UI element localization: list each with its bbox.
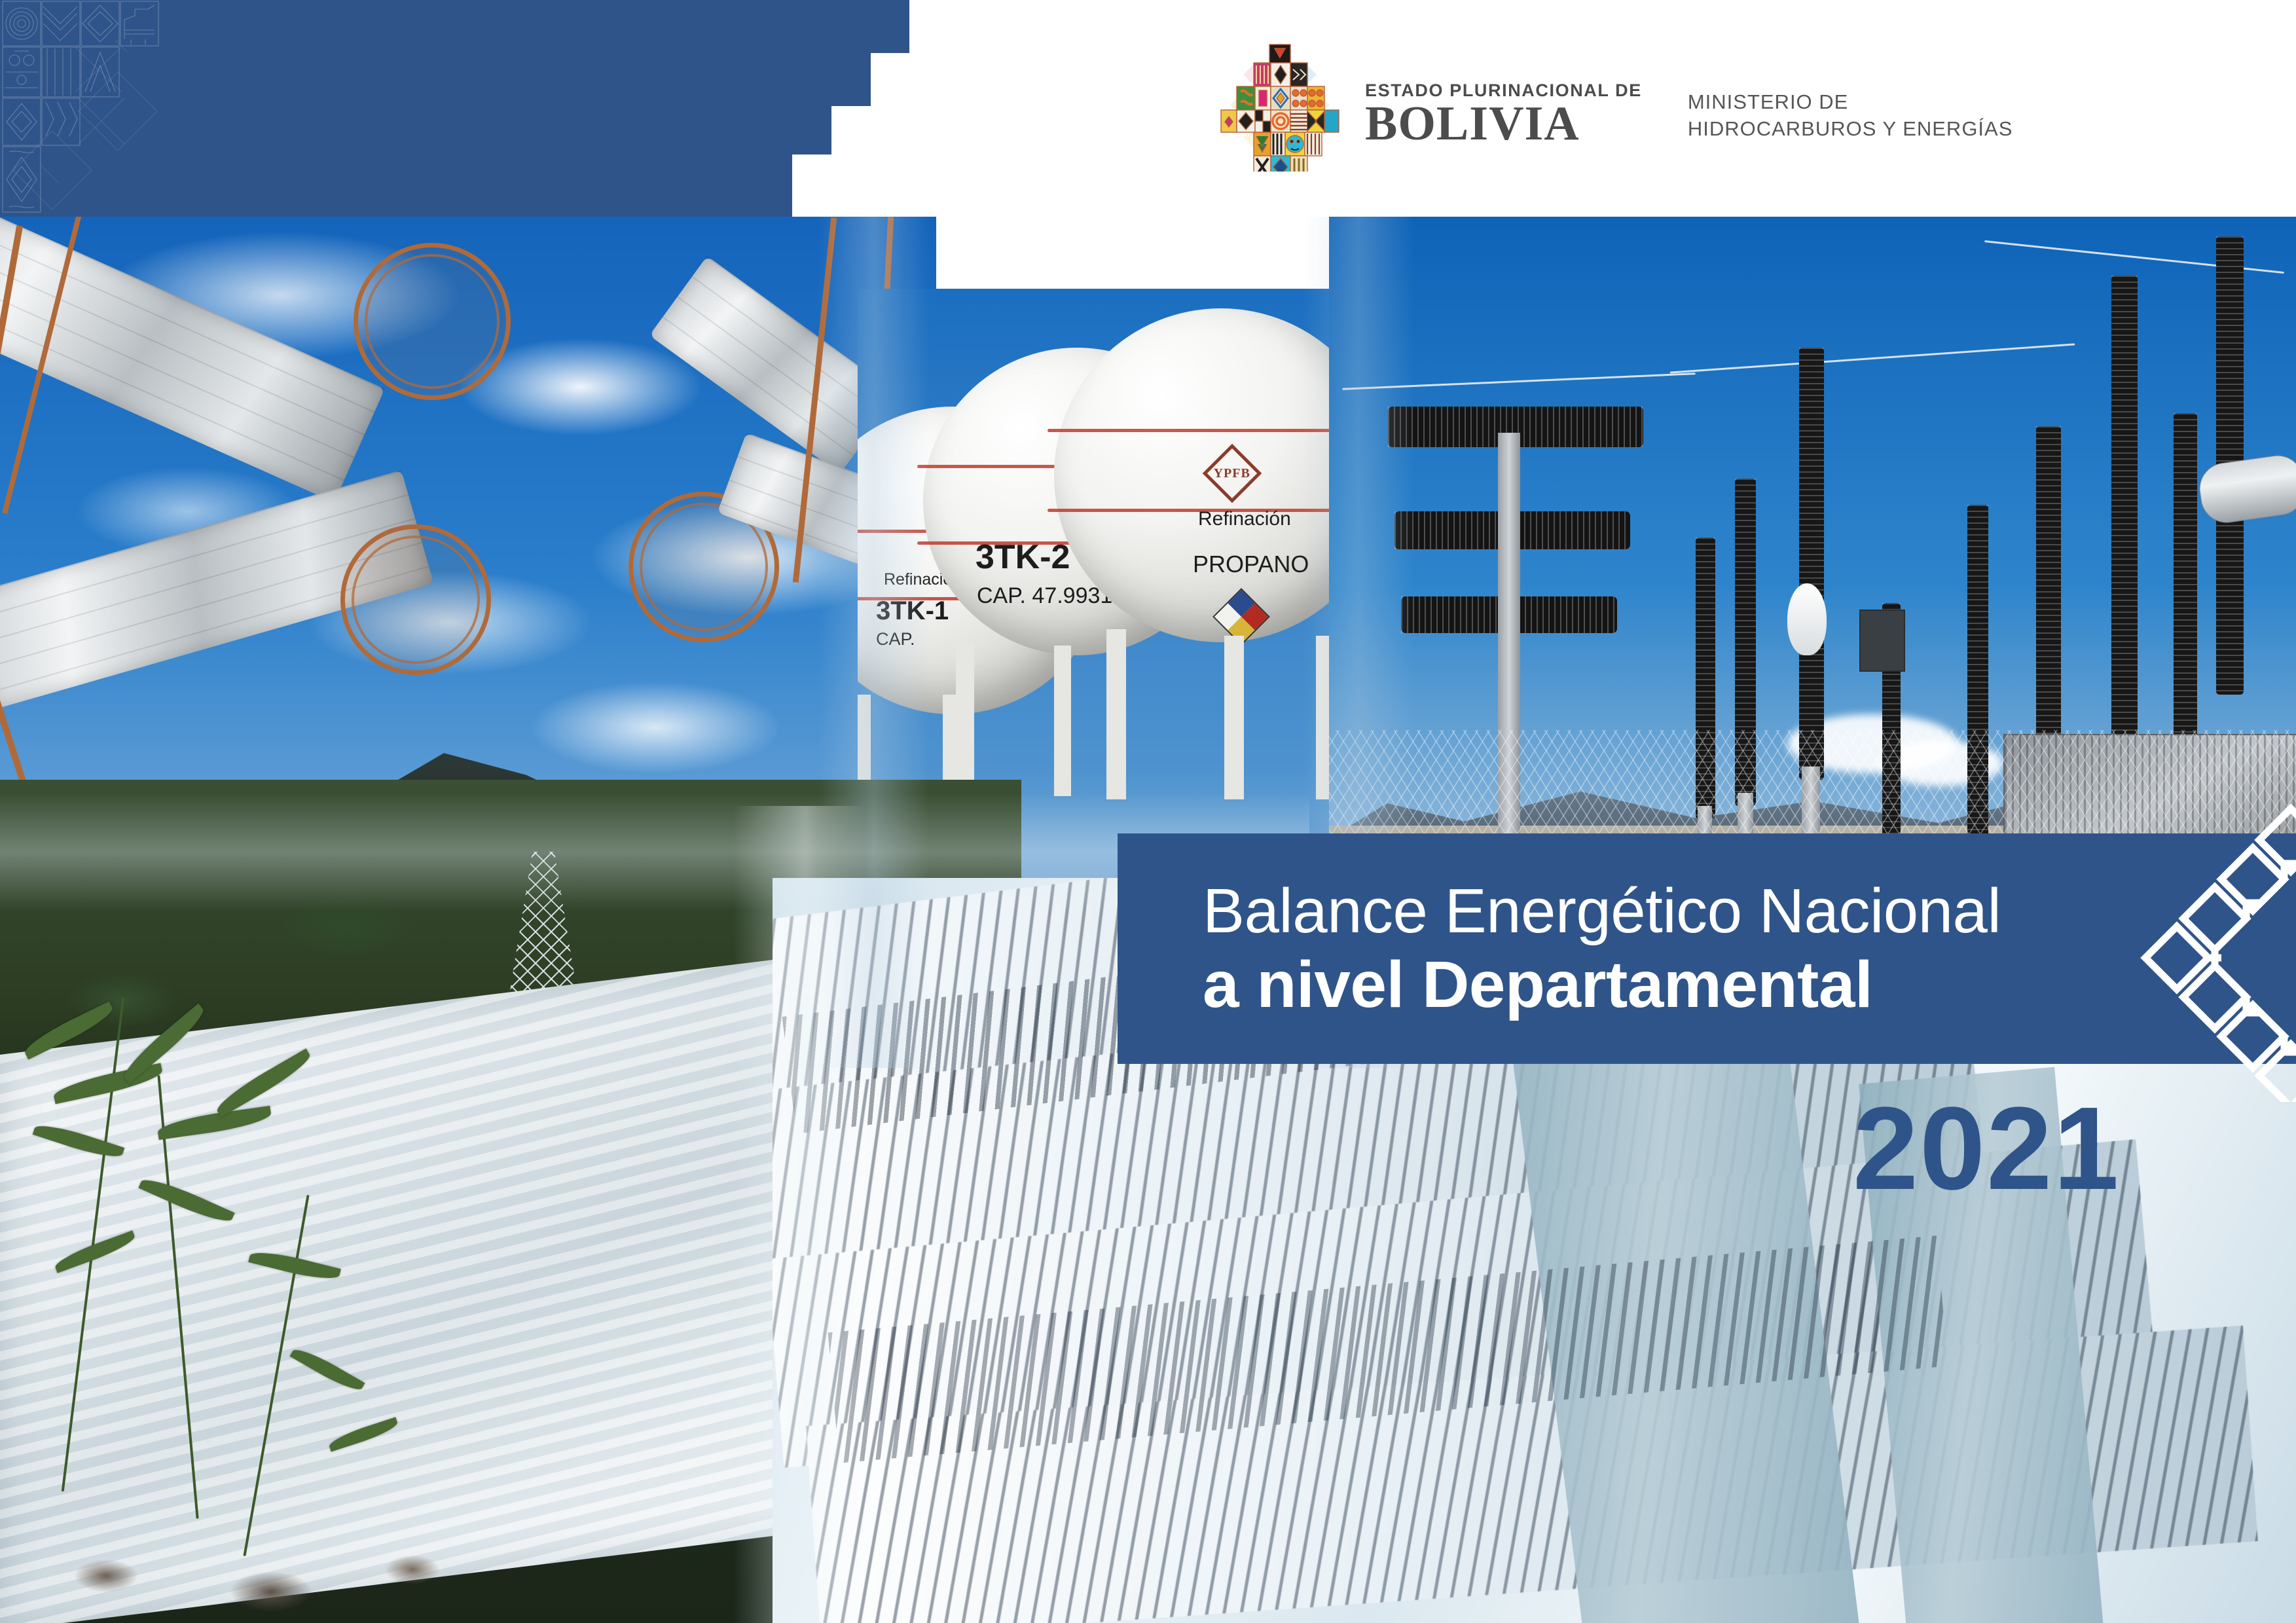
report-cover: Refinación 3TK-1 CAP. 3TK-2 CAP. 47.9931… <box>0 0 2296 1623</box>
country-name: BOLIVIA <box>1365 101 1580 147</box>
bolivia-wordmark: ESTADO PLURINACIONAL DE BOLIVIA <box>1365 65 1642 147</box>
institutional-logo-group: ESTADO PLURINACIONAL DE BOLIVIA MINISTER… <box>1214 41 2013 172</box>
tank-label-capacity: CAP. 47.9931 <box>977 583 1112 609</box>
diamond-chain-ornament-icon <box>2126 794 2296 1102</box>
tank-support-leg <box>956 642 974 793</box>
surge-arrester <box>1787 583 1827 655</box>
tank-support-leg <box>1224 636 1244 799</box>
photo-panel-refinery-towers <box>0 217 936 871</box>
title-text-group: Balance Energético Nacional a nivel Depa… <box>1203 833 2145 1064</box>
control-box <box>1859 610 1905 672</box>
insulator-column <box>1799 348 1824 780</box>
tank-support-leg <box>1054 646 1071 796</box>
publication-year: 2021 <box>1853 1090 2120 1208</box>
insulator-column <box>2111 276 2138 747</box>
tank-label-tag-far: 3TK-1 <box>876 596 949 626</box>
header-blue-step-1 <box>0 0 909 53</box>
tank-label-product: PROPANO <box>1193 551 1309 578</box>
ministry-name: MINISTERIO DE HIDROCARBUROS Y ENERGÍAS <box>1688 69 2013 143</box>
tank-label-division: Refinación <box>1198 508 1291 530</box>
header-blue-step-2 <box>0 53 871 106</box>
chakana-logo-icon <box>1214 41 1345 172</box>
insulator-column <box>2174 413 2197 780</box>
riverbed-rocks <box>0 1466 589 1623</box>
ministry-line-2: HIDROCARBUROS Y ENERGÍAS <box>1688 116 2013 143</box>
title-block: Balance Energético Nacional a nivel Depa… <box>1118 833 2296 1064</box>
page-title-line-1: Balance Energético Nacional <box>1203 877 2145 945</box>
tank-label-capacity-far: CAP. <box>876 629 915 649</box>
header-blue-step-3 <box>0 106 831 155</box>
page-title-line-2: a nivel Departamental <box>1203 949 2145 1020</box>
ministry-line-1: MINISTERIO DE <box>1688 89 2013 116</box>
header-band: ESTADO PLURINACIONAL DE BOLIVIA MINISTER… <box>0 0 2296 217</box>
tank-label-tag-near: 3TK-2 <box>975 538 1070 577</box>
header-blue-step-4 <box>0 155 792 217</box>
tank-support-leg <box>1106 629 1126 799</box>
ypfb-logo-text: YPFB <box>1214 466 1250 481</box>
